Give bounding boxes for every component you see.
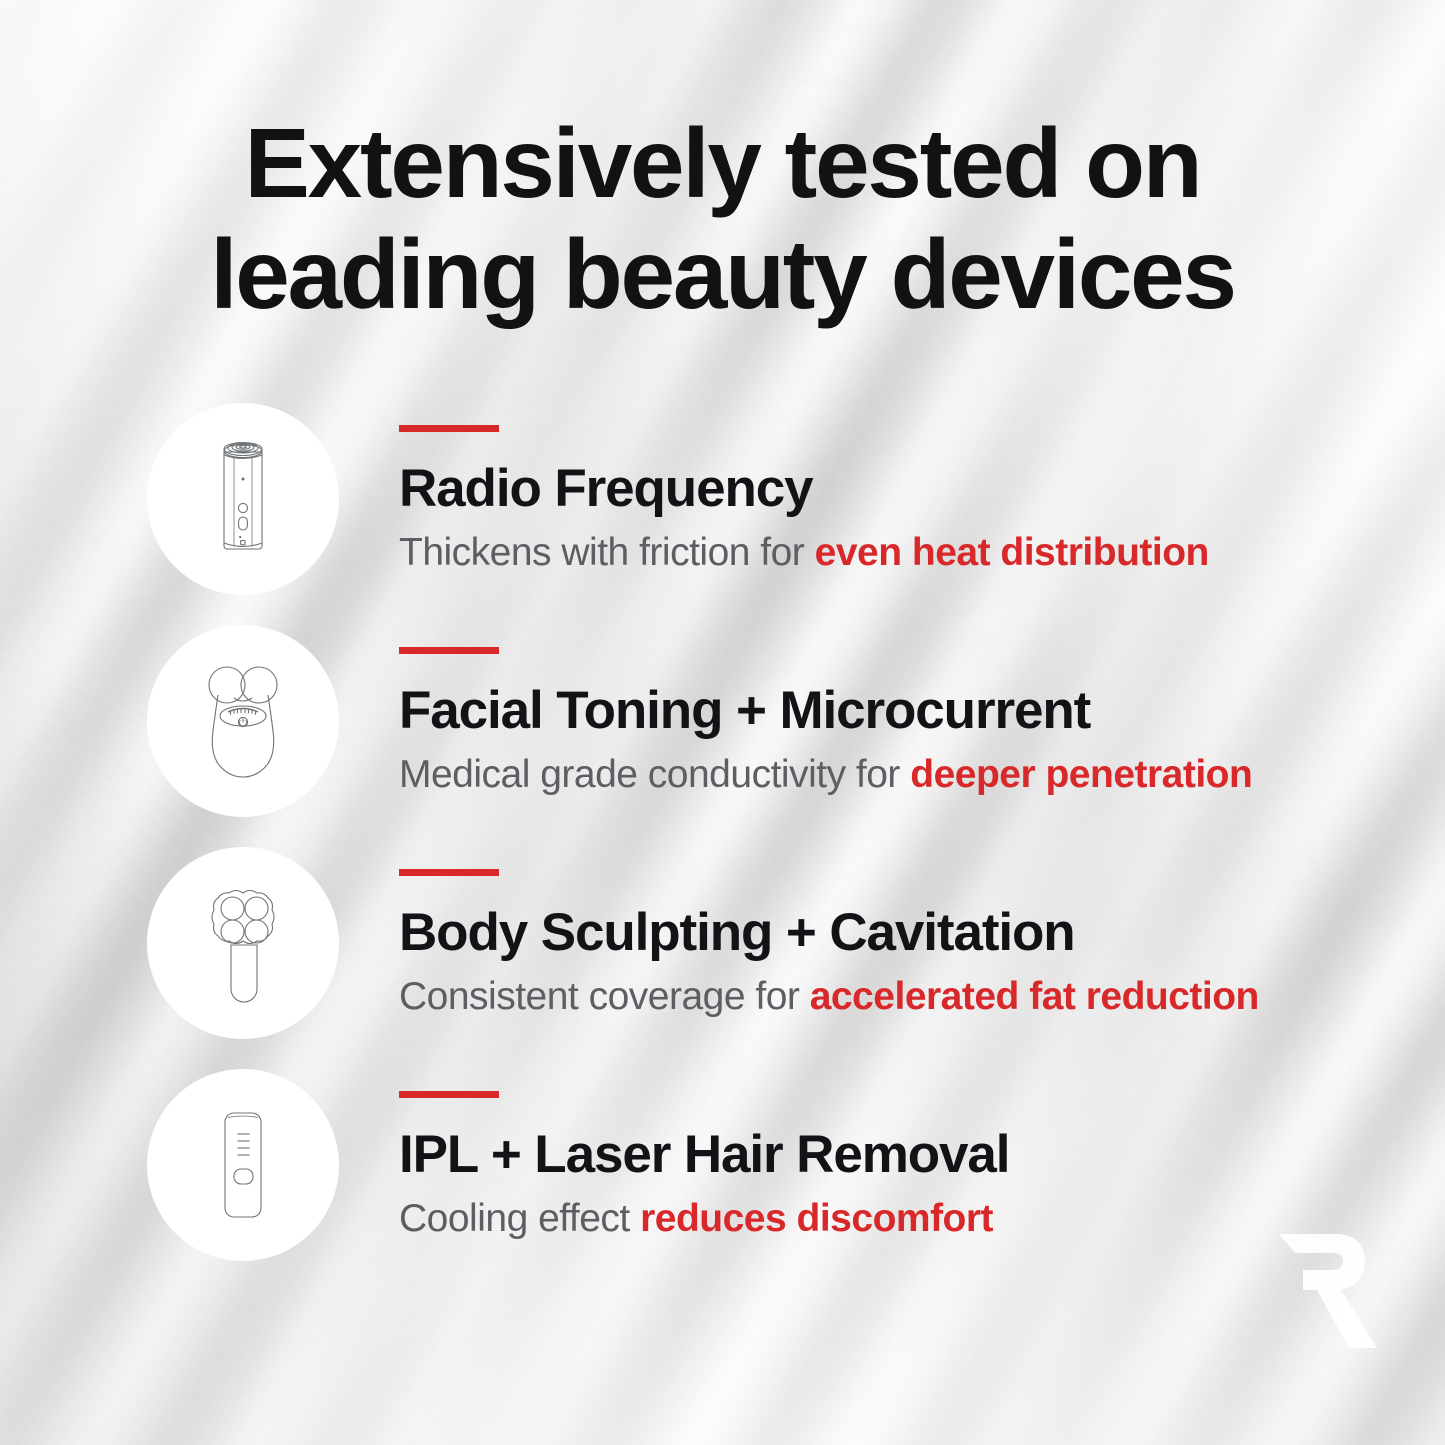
feature-title: Body Sculpting + Cavitation [399, 906, 1405, 959]
feature-subtitle-emphasis: even heat distribution [815, 531, 1209, 574]
feature-title: Facial Toning + Microcurrent [399, 684, 1405, 737]
facial-toning-device-icon [168, 646, 318, 796]
accent-rule [399, 869, 499, 876]
feature-subtitle-plain: Medical grade conductivity for [399, 753, 910, 796]
feature-row: IPL + Laser Hair Removal Cooling effect … [0, 1054, 1445, 1276]
feature-copy: IPL + Laser Hair Removal Cooling effect … [399, 1091, 1445, 1239]
feature-copy: Radio Frequency Thickens with friction f… [399, 425, 1445, 573]
feature-copy: Body Sculpting + Cavitation Consistent c… [399, 869, 1445, 1017]
feature-icon-medallion [147, 1069, 339, 1261]
feature-title: Radio Frequency [399, 462, 1405, 515]
rf-wand-icon [168, 424, 318, 574]
feature-row: Facial Toning + Microcurrent Medical gra… [0, 610, 1445, 832]
headline-line-1: Extensively tested on [0, 108, 1445, 219]
poster-canvas: Extensively tested on leading beauty dev… [0, 0, 1445, 1445]
feature-copy: Facial Toning + Microcurrent Medical gra… [399, 647, 1445, 795]
feature-row: Radio Frequency Thickens with friction f… [0, 388, 1445, 610]
feature-subtitle-plain: Consistent coverage for [399, 975, 810, 1018]
ipl-device-icon [168, 1090, 318, 1240]
feature-icon-medallion [147, 847, 339, 1039]
accent-rule [399, 647, 499, 654]
feature-subtitle-plain: Cooling effect [399, 1197, 640, 1240]
feature-subtitle: Consistent coverage for accelerated fat … [399, 976, 1405, 1017]
feature-subtitle: Cooling effect reduces discomfort [399, 1198, 1405, 1239]
brand-logo-r [1273, 1232, 1383, 1350]
accent-rule [399, 1091, 499, 1098]
feature-icon-medallion [147, 625, 339, 817]
feature-subtitle-emphasis: accelerated fat reduction [810, 975, 1259, 1018]
feature-subtitle-emphasis: deeper penetration [910, 753, 1252, 796]
feature-row: Body Sculpting + Cavitation Consistent c… [0, 832, 1445, 1054]
feature-icon-medallion [147, 403, 339, 595]
feature-subtitle-emphasis: reduces discomfort [640, 1197, 993, 1240]
body-sculpting-device-icon [168, 868, 318, 1018]
headline-line-2: leading beauty devices [0, 219, 1445, 330]
feature-subtitle: Thickens with friction for even heat dis… [399, 532, 1405, 573]
accent-rule [399, 425, 499, 432]
feature-subtitle: Medical grade conductivity for deeper pe… [399, 754, 1405, 795]
feature-title: IPL + Laser Hair Removal [399, 1128, 1405, 1181]
page-title: Extensively tested on leading beauty dev… [0, 108, 1445, 329]
feature-list: Radio Frequency Thickens with friction f… [0, 388, 1445, 1276]
feature-subtitle-plain: Thickens with friction for [399, 531, 815, 574]
